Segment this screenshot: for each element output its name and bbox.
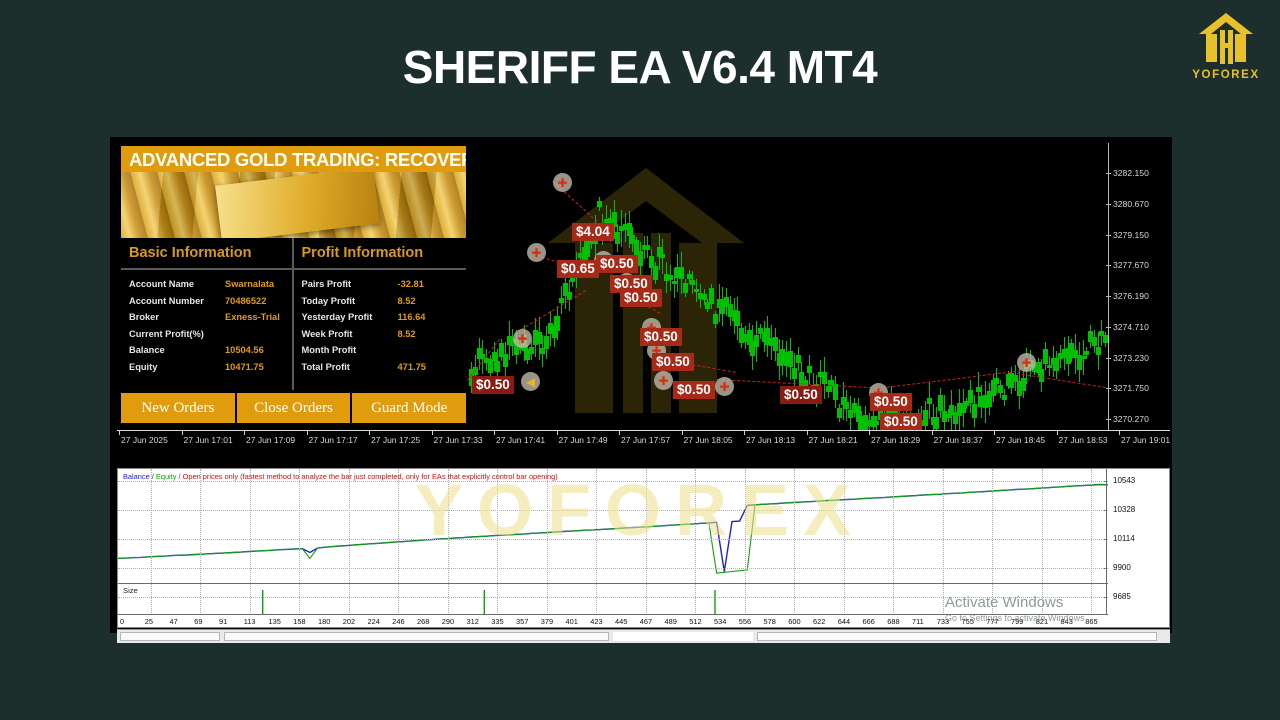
time-tick-mark bbox=[807, 431, 808, 435]
tester-x-tick-label: 91 bbox=[219, 617, 227, 626]
tester-gridline-v bbox=[844, 469, 845, 613]
size-subplot: Size bbox=[118, 583, 1108, 613]
tester-x-tick-label: 0 bbox=[120, 617, 124, 626]
basic-info-label: Account Name bbox=[129, 279, 225, 289]
footer-box-1 bbox=[120, 632, 220, 641]
tester-x-tick-label: 113 bbox=[244, 617, 256, 626]
time-tick-label: 27 Jun 18:29 bbox=[871, 435, 920, 445]
price-tick-label: 3273.230 bbox=[1113, 353, 1149, 363]
tester-y-tick-label: 10328 bbox=[1113, 505, 1135, 514]
basic-information-heading: Basic Information bbox=[121, 238, 292, 270]
tester-x-tick-label: 25 bbox=[145, 617, 153, 626]
size-label: Size bbox=[123, 586, 138, 595]
profit-info-label: Pairs Profit bbox=[302, 279, 398, 289]
tester-x-tick-label: 268 bbox=[417, 617, 429, 626]
basic-info-row: Current Profit(%) bbox=[129, 326, 292, 343]
tester-x-tick-label: 843 bbox=[1061, 617, 1073, 626]
profit-info-label: Total Profit bbox=[302, 362, 398, 372]
time-tick-label: 27 Jun 18:13 bbox=[746, 435, 795, 445]
basic-information-column: Basic Information Account NameSwarnalata… bbox=[121, 238, 294, 390]
time-tick-label: 27 Jun 17:41 bbox=[496, 435, 545, 445]
profit-info-label: Month Profit bbox=[302, 345, 398, 355]
tester-x-tick-label: 445 bbox=[615, 617, 627, 626]
tester-x-tick-label: 755 bbox=[962, 617, 974, 626]
profit-info-value: 471.75 bbox=[398, 362, 426, 372]
candlestick bbox=[597, 197, 603, 212]
time-axis[interactable]: 27 Jun 202527 Jun 17:0127 Jun 17:0927 Ju… bbox=[117, 430, 1170, 450]
buy-trade-marker-icon: ✚ bbox=[1017, 353, 1036, 372]
size-bar bbox=[484, 590, 485, 614]
tester-x-tick-label: 799 bbox=[1011, 617, 1023, 626]
tester-y-tick-label: 10543 bbox=[1113, 476, 1135, 485]
trade-profit-label: $0.50 bbox=[880, 413, 922, 431]
tester-x-tick-label: 666 bbox=[863, 617, 875, 626]
time-tick-mark bbox=[682, 431, 683, 435]
balance-curve bbox=[118, 485, 1108, 572]
price-tick-label: 3274.710 bbox=[1113, 322, 1149, 332]
profit-info-label: Today Profit bbox=[302, 296, 398, 306]
trade-profit-label: $0.50 bbox=[472, 376, 514, 394]
tester-x-tick-label: 711 bbox=[912, 617, 924, 626]
time-tick-label: 27 Jun 18:21 bbox=[809, 435, 858, 445]
buy-trade-marker-icon: ✚ bbox=[513, 329, 532, 348]
tester-gridline-v bbox=[151, 469, 152, 613]
tester-gridline-v bbox=[250, 469, 251, 613]
profit-info-row: Month Profit bbox=[302, 342, 467, 359]
tester-x-tick-label: 688 bbox=[887, 617, 899, 626]
time-tick-label: 27 Jun 18:05 bbox=[684, 435, 733, 445]
terminal-window: ✚✚✚✚✚◀✚✚✚✚✚✚ $2.01$0.50$0.50$0.50$4.04$0… bbox=[110, 137, 1172, 633]
tester-gridline-v bbox=[646, 469, 647, 613]
buy-trade-marker-icon: ✚ bbox=[553, 173, 572, 192]
tester-x-tick-label: 379 bbox=[541, 617, 553, 626]
size-bar bbox=[714, 590, 715, 614]
brand-logo: YOFOREX bbox=[1186, 12, 1266, 90]
time-tick-mark bbox=[369, 431, 370, 435]
footer-box-3 bbox=[613, 632, 753, 641]
tester-gridline-v bbox=[596, 469, 597, 613]
footer-box-2 bbox=[224, 632, 609, 641]
tester-x-axis: 0254769911131351581802022242462682903123… bbox=[118, 614, 1108, 628]
basic-info-value: Swarnalata bbox=[225, 279, 274, 289]
page-title: SHERIFF EA V6.4 MT4 bbox=[0, 40, 1280, 94]
profit-info-row: Today Profit8.52 bbox=[302, 293, 467, 310]
tester-x-tick-label: 512 bbox=[689, 617, 701, 626]
profit-info-value: 116.64 bbox=[398, 312, 426, 322]
tester-x-tick-label: 556 bbox=[739, 617, 751, 626]
tester-gridline-v bbox=[349, 469, 350, 613]
profit-info-value: 8.52 bbox=[398, 296, 416, 306]
close-orders-button[interactable]: Close Orders bbox=[237, 393, 351, 423]
basic-info-label: Current Profit(%) bbox=[129, 329, 225, 339]
tester-footer-bar bbox=[117, 629, 1170, 643]
ea-action-buttons: New Orders Close Orders Guard Mode bbox=[121, 393, 466, 423]
basic-info-row: Equity10471.75 bbox=[129, 359, 292, 376]
tester-x-tick-label: 534 bbox=[714, 617, 726, 626]
tester-x-tick-label: 401 bbox=[566, 617, 578, 626]
candlestick bbox=[1084, 347, 1090, 359]
ea-panel-title: ADVANCED GOLD TRADING: RECOVERY bbox=[121, 146, 466, 172]
trade-profit-label: $0.50 bbox=[673, 381, 715, 399]
time-tick-label: 27 Jun 17:49 bbox=[559, 435, 608, 445]
tester-gridline-v bbox=[992, 469, 993, 613]
tester-x-tick-label: 357 bbox=[516, 617, 528, 626]
price-chart[interactable]: ✚✚✚✚✚◀✚✚✚✚✚✚ $2.01$0.50$0.50$0.50$4.04$0… bbox=[117, 143, 1170, 450]
time-tick-label: 27 Jun 17:17 bbox=[309, 435, 358, 445]
tester-gridline-h bbox=[118, 510, 1108, 511]
tester-gridline-v bbox=[695, 469, 696, 613]
tester-x-tick-label: 47 bbox=[170, 617, 178, 626]
legend-separator-1: / bbox=[152, 472, 154, 481]
profit-info-label: Week Profit bbox=[302, 329, 398, 339]
trade-profit-label: $0.65 bbox=[557, 260, 599, 278]
tester-gridline-h bbox=[118, 481, 1108, 482]
brand-name: YOFOREX bbox=[1192, 69, 1259, 81]
tester-y-tick-label: 10114 bbox=[1113, 534, 1135, 543]
profit-info-row: Yesterday Profit116.64 bbox=[302, 309, 467, 326]
time-tick-mark bbox=[557, 431, 558, 435]
tester-x-tick-label: 644 bbox=[838, 617, 850, 626]
tester-gridline-v bbox=[745, 469, 746, 613]
tester-x-tick-label: 246 bbox=[392, 617, 404, 626]
profit-info-row: Week Profit8.52 bbox=[302, 326, 467, 343]
legend-separator-2: / bbox=[179, 472, 181, 481]
legend-note: Open prices only (fastest method to anal… bbox=[183, 472, 558, 481]
tester-x-tick-label: 312 bbox=[467, 617, 479, 626]
tester-gridline-v bbox=[299, 469, 300, 613]
time-tick-mark bbox=[932, 431, 933, 435]
tester-x-tick-label: 224 bbox=[368, 617, 380, 626]
footer-box-4 bbox=[757, 632, 1157, 641]
price-tick-mark bbox=[1106, 327, 1111, 328]
price-axis[interactable]: 3282.1503280.6703279.1503277.6703276.190… bbox=[1108, 143, 1170, 450]
tester-gridline-v bbox=[398, 469, 399, 613]
tester-x-tick-label: 135 bbox=[269, 617, 281, 626]
tester-x-tick-label: 777 bbox=[986, 617, 998, 626]
profit-info-value: 8.52 bbox=[398, 329, 416, 339]
tester-gridline-h bbox=[118, 539, 1108, 540]
price-tick-label: 3270.270 bbox=[1113, 414, 1149, 424]
time-tick-mark bbox=[182, 431, 183, 435]
profit-information-column: Profit Information Pairs Profit-32.81Tod… bbox=[294, 238, 467, 390]
new-orders-button[interactable]: New Orders bbox=[121, 393, 235, 423]
trade-profit-label: $4.04 bbox=[572, 223, 614, 241]
strategy-tester-graph[interactable]: Balance / Equity / Open prices only (fas… bbox=[117, 468, 1170, 628]
trade-profit-label: $0.50 bbox=[620, 289, 662, 307]
time-tick-mark bbox=[994, 431, 995, 435]
time-tick-mark bbox=[307, 431, 308, 435]
tester-x-tick-label: 622 bbox=[813, 617, 825, 626]
time-tick-mark bbox=[1057, 431, 1058, 435]
tester-x-tick-label: 865 bbox=[1085, 617, 1097, 626]
time-tick-label: 27 Jun 18:37 bbox=[934, 435, 983, 445]
price-tick-mark bbox=[1106, 265, 1111, 266]
time-tick-label: 27 Jun 17:57 bbox=[621, 435, 670, 445]
basic-info-value: 10504.56 bbox=[225, 345, 264, 355]
time-tick-mark bbox=[494, 431, 495, 435]
tester-x-tick-label: 180 bbox=[318, 617, 330, 626]
price-tick-mark bbox=[1106, 419, 1111, 420]
price-tick-label: 3277.670 bbox=[1113, 260, 1149, 270]
basic-info-label: Equity bbox=[129, 362, 225, 372]
price-tick-label: 3276.190 bbox=[1113, 291, 1149, 301]
basic-info-label: Account Number bbox=[129, 296, 225, 306]
legend-equity: Equity bbox=[156, 472, 177, 481]
price-tick-mark bbox=[1106, 296, 1111, 297]
yoforex-logo-icon bbox=[1196, 12, 1256, 66]
basic-info-row: Balance10504.56 bbox=[129, 342, 292, 359]
candlestick bbox=[833, 376, 839, 408]
tester-x-tick-label: 600 bbox=[788, 617, 800, 626]
price-tick-mark bbox=[1106, 173, 1111, 174]
trade-profit-label: $0.50 bbox=[652, 353, 694, 371]
price-tick-label: 3280.670 bbox=[1113, 199, 1149, 209]
basic-info-label: Broker bbox=[129, 312, 225, 322]
tester-x-tick-label: 423 bbox=[590, 617, 602, 626]
tester-gridline-v bbox=[547, 469, 548, 613]
price-tick-mark bbox=[1106, 235, 1111, 236]
basic-info-row: BrokerExness-Trial bbox=[129, 309, 292, 326]
time-tick-mark bbox=[869, 431, 870, 435]
price-tick-mark bbox=[1106, 204, 1111, 205]
tester-x-tick-label: 335 bbox=[491, 617, 503, 626]
tester-gridline-v bbox=[1042, 469, 1043, 613]
tester-gridline-v bbox=[893, 469, 894, 613]
profit-info-row: Pairs Profit-32.81 bbox=[302, 276, 467, 293]
tester-y-tick-label: 9685 bbox=[1113, 592, 1131, 601]
time-tick-label: 27 Jun 18:45 bbox=[996, 435, 1045, 445]
tester-x-tick-label: 467 bbox=[640, 617, 652, 626]
time-tick-mark bbox=[744, 431, 745, 435]
profit-info-row: Total Profit471.75 bbox=[302, 359, 467, 376]
tester-y-axis: 10543103281011499009685 bbox=[1106, 469, 1169, 614]
trade-profit-label: $0.50 bbox=[640, 328, 682, 346]
profit-information-heading: Profit Information bbox=[294, 238, 467, 270]
tester-gridline-v bbox=[497, 469, 498, 613]
time-tick-mark bbox=[619, 431, 620, 435]
price-tick-label: 3279.150 bbox=[1113, 230, 1149, 240]
time-tick-label: 27 Jun 17:01 bbox=[184, 435, 233, 445]
tester-gridline-v bbox=[200, 469, 201, 613]
tester-x-tick-label: 578 bbox=[764, 617, 776, 626]
time-tick-label: 27 Jun 2025 bbox=[121, 435, 168, 445]
legend-balance: Balance bbox=[123, 472, 150, 481]
tester-x-tick-label: 290 bbox=[442, 617, 454, 626]
profit-info-value: -32.81 bbox=[398, 279, 424, 289]
time-tick-label: 27 Jun 18:53 bbox=[1059, 435, 1108, 445]
tester-gridline-h bbox=[118, 597, 1108, 598]
tester-gridline-v bbox=[1091, 469, 1092, 613]
tester-gridline-v bbox=[943, 469, 944, 613]
trade-profit-label: $0.50 bbox=[870, 393, 912, 411]
basic-info-value: 70486522 bbox=[225, 296, 266, 306]
tester-x-tick-label: 821 bbox=[1036, 617, 1048, 626]
basic-info-row: Account NameSwarnalata bbox=[129, 276, 292, 293]
trade-profit-label: $0.50 bbox=[596, 255, 638, 273]
basic-info-row: Account Number70486522 bbox=[129, 293, 292, 310]
basic-info-value: 10471.75 bbox=[225, 362, 264, 372]
gold-bars-banner-image bbox=[121, 172, 466, 238]
tester-x-tick-label: 158 bbox=[293, 617, 305, 626]
price-tick-label: 3282.150 bbox=[1113, 168, 1149, 178]
tester-y-tick-label: 9900 bbox=[1113, 563, 1131, 572]
candlestick bbox=[709, 284, 715, 309]
time-tick-mark bbox=[432, 431, 433, 435]
candlestick bbox=[1002, 389, 1008, 406]
tester-x-tick-label: 733 bbox=[937, 617, 949, 626]
time-tick-mark bbox=[119, 431, 120, 435]
buy-trade-marker-icon: ✚ bbox=[527, 243, 546, 262]
buy-trade-marker-icon: ✚ bbox=[715, 377, 734, 396]
size-bar bbox=[262, 590, 263, 614]
guard-mode-button[interactable]: Guard Mode bbox=[352, 393, 466, 423]
tester-x-tick-label: 69 bbox=[194, 617, 202, 626]
equity-curve bbox=[118, 485, 1108, 574]
basic-information-rows: Account NameSwarnalataAccount Number7048… bbox=[121, 270, 292, 375]
basic-info-label: Balance bbox=[129, 345, 225, 355]
tester-gridline-h bbox=[118, 568, 1108, 569]
time-tick-label: 27 Jun 17:25 bbox=[371, 435, 420, 445]
time-tick-label: 27 Jun 17:09 bbox=[246, 435, 295, 445]
ea-dashboard-panel[interactable]: ADVANCED GOLD TRADING: RECOVERY Basic In… bbox=[121, 146, 466, 431]
balance-equity-plot bbox=[118, 469, 1108, 583]
buy-trade-marker-icon: ✚ bbox=[654, 371, 673, 390]
basic-info-value: Exness-Trial bbox=[225, 312, 280, 322]
profit-info-label: Yesterday Profit bbox=[302, 312, 398, 322]
tester-x-tick-label: 202 bbox=[343, 617, 355, 626]
price-tick-label: 3271.750 bbox=[1113, 383, 1149, 393]
tester-legend: Balance / Equity / Open prices only (fas… bbox=[123, 472, 558, 481]
price-tick-mark bbox=[1106, 388, 1111, 389]
price-tick-mark bbox=[1106, 358, 1111, 359]
trade-profit-label: $0.50 bbox=[780, 386, 822, 404]
time-tick-mark bbox=[1119, 431, 1120, 435]
tester-gridline-v bbox=[448, 469, 449, 613]
time-tick-label: 27 Jun 19:01 bbox=[1121, 435, 1170, 445]
time-tick-label: 27 Jun 17:33 bbox=[434, 435, 483, 445]
tester-x-tick-label: 489 bbox=[665, 617, 677, 626]
profit-information-rows: Pairs Profit-32.81Today Profit8.52Yester… bbox=[294, 270, 467, 375]
sell-trade-marker-icon: ◀ bbox=[521, 372, 540, 391]
time-tick-mark bbox=[244, 431, 245, 435]
tester-gridline-v bbox=[794, 469, 795, 613]
